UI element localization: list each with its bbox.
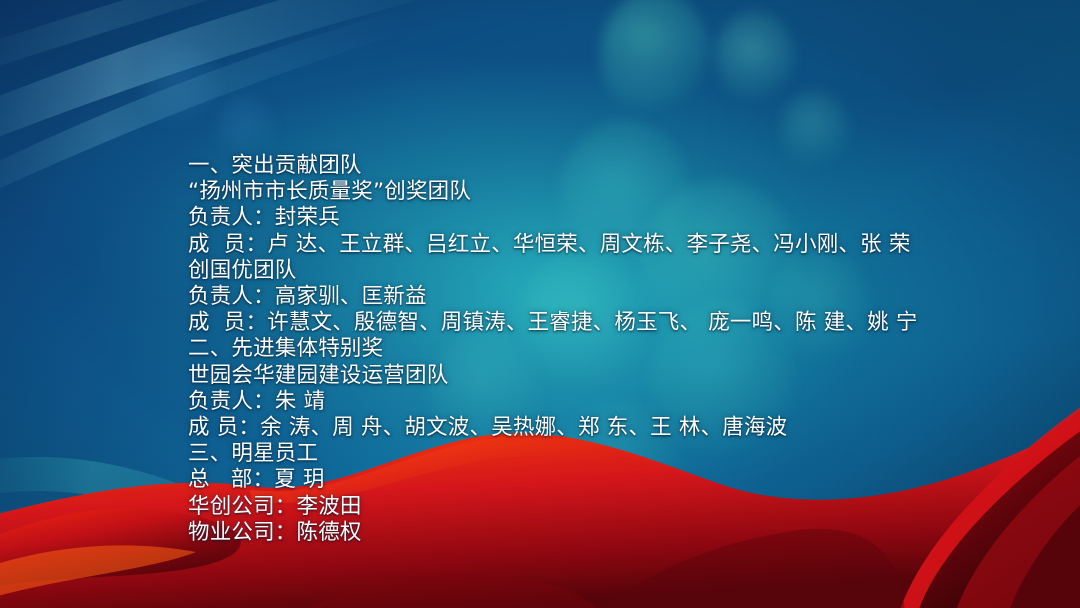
text-line: 一、突出贡献团队 [188, 153, 978, 179]
presentation-slide: 2021 年度先进团队与个人 一、突出贡献团队 “扬州市市长质量奖”创奖团队 负… [0, 0, 1080, 608]
bokeh-circle [140, 40, 220, 130]
text-line: 世园会华建园建设运营团队 [188, 363, 978, 389]
text-line: “扬州市市长质量奖”创奖团队 [188, 179, 978, 205]
slide-title-container: 2021 年度先进团队与个人 [0, 50, 1080, 119]
slide-body-text: 一、突出贡献团队 “扬州市市长质量奖”创奖团队 负责人：封荣兵 成 员：卢 达、… [188, 153, 978, 546]
text-line: 物业公司：陈德权 [188, 520, 978, 546]
text-line: 华创公司：李波田 [188, 494, 978, 520]
slide-title: 2021 年度先进团队与个人 [162, 50, 918, 119]
bokeh-circle [600, 0, 710, 120]
text-line: 创国优团队 [188, 258, 978, 284]
text-line: 三、明星员工 [188, 441, 978, 467]
text-line: 二、先进集体特别奖 [188, 336, 978, 362]
text-line: 总 部：夏 玥 [188, 467, 978, 493]
text-line: 负责人：朱 靖 [188, 389, 978, 415]
text-line: 成 员：余 涛、周 舟、胡文波、吴热娜、郑 东、王 林、唐海波 [188, 415, 978, 441]
bokeh-circle [715, 10, 795, 105]
text-line: 成 员：许慧文、殷德智、周镇涛、王睿捷、杨玉飞、 庞一鸣、陈 建、姚 宁 [188, 310, 978, 336]
text-line: 成 员：卢 达、王立群、吕红立、华恒荣、周文栋、李子尧、冯小刚、张 荣 [188, 232, 978, 258]
text-line: 负责人：封荣兵 [188, 205, 978, 231]
text-line: 负责人：高家驯、匡新益 [188, 284, 978, 310]
